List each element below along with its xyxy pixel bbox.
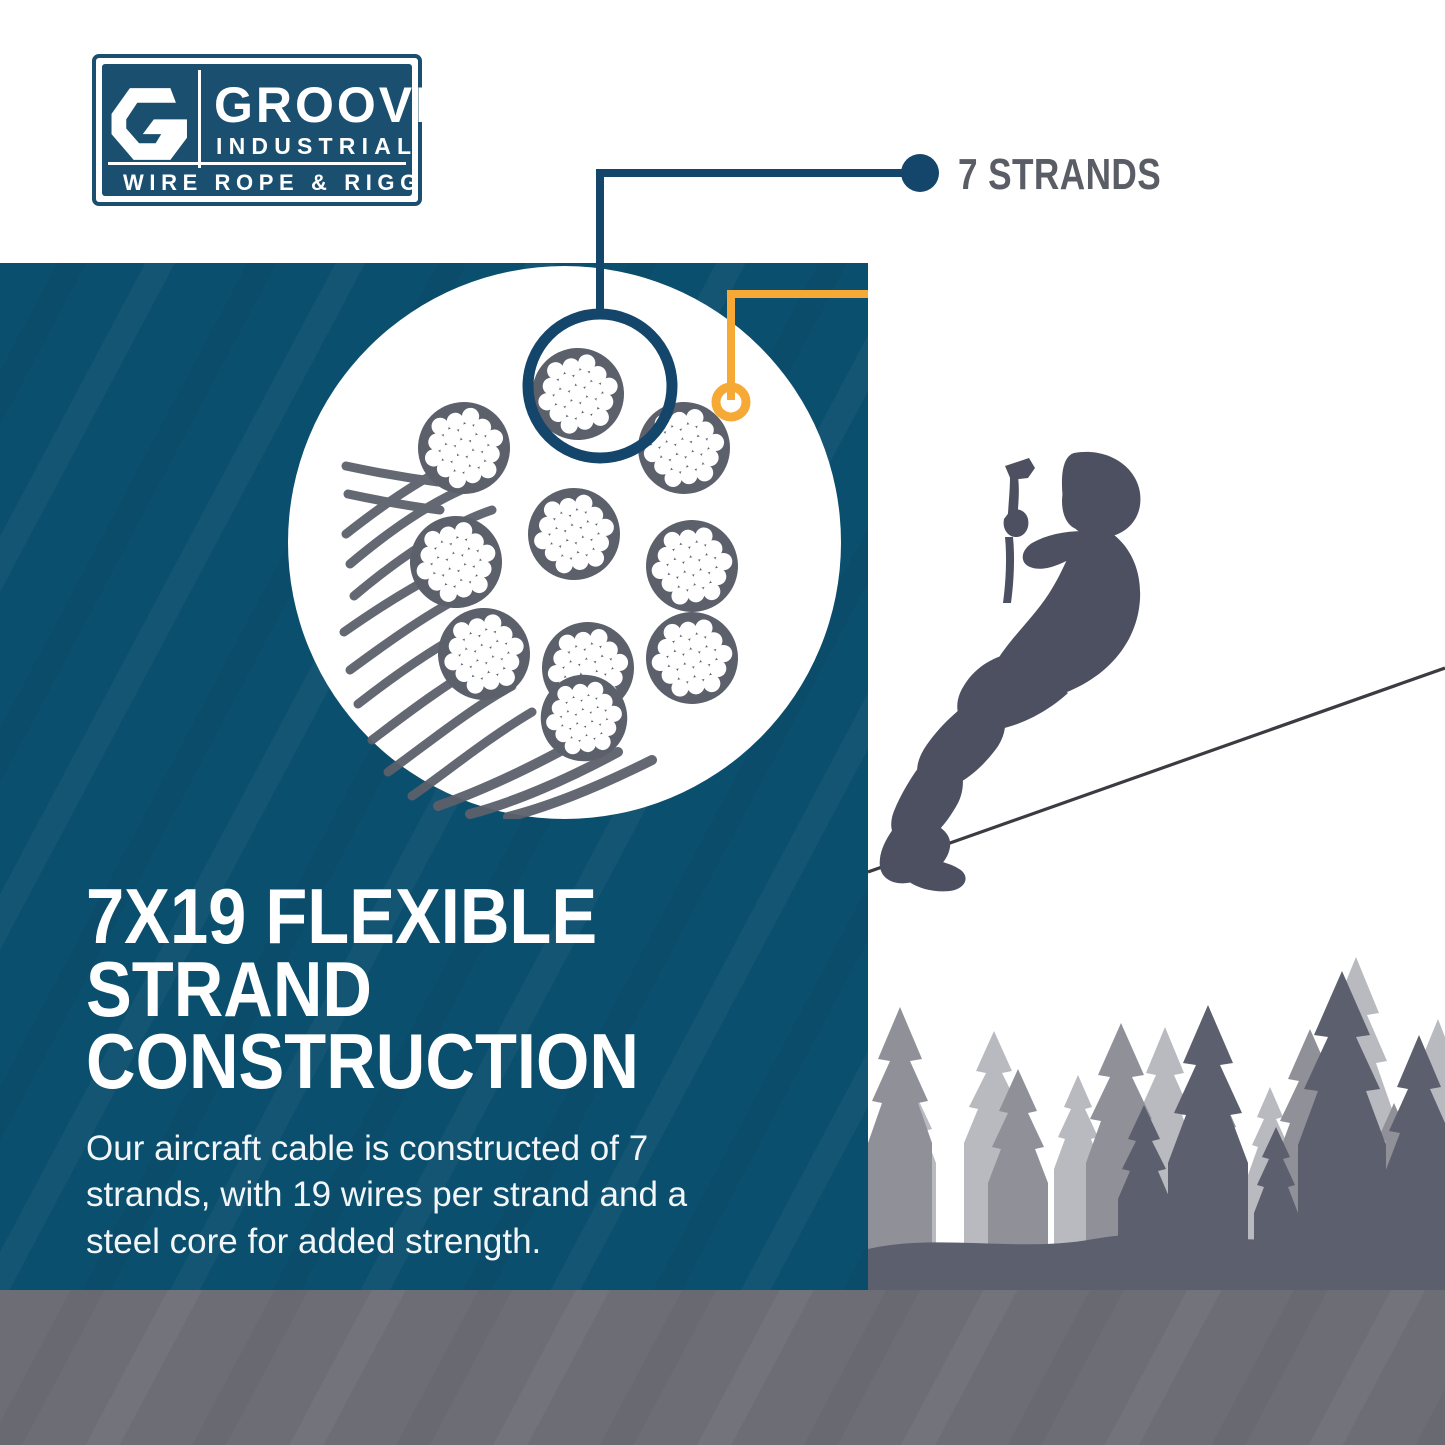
bottom-stripe-pattern bbox=[0, 1290, 1445, 1445]
page-title: 7X19 FLEXIBLE STRAND CONSTRUCTION bbox=[86, 880, 755, 1098]
callout-label-strands: 7 STRANDS bbox=[958, 150, 1161, 200]
page-title-line-1: 7X19 FLEXIBLE bbox=[86, 880, 755, 953]
ring-marker-icon-wires bbox=[716, 387, 746, 417]
dot-marker-icon-strands bbox=[901, 154, 939, 192]
infographic-canvas: GROOVE INDUSTRIAL WIRE ROPE & RIGGING bbox=[0, 0, 1445, 1445]
hero-text-block: 7X19 FLEXIBLE STRAND CONSTRUCTION Our ai… bbox=[86, 880, 846, 1265]
page-title-line-2: STRAND CONSTRUCTION bbox=[86, 953, 755, 1098]
bottom-grey-bar bbox=[0, 1290, 1445, 1445]
zipline-forest-scene bbox=[868, 263, 1445, 1290]
hero-description: Our aircraft cable is constructed of 7 s… bbox=[86, 1126, 746, 1266]
